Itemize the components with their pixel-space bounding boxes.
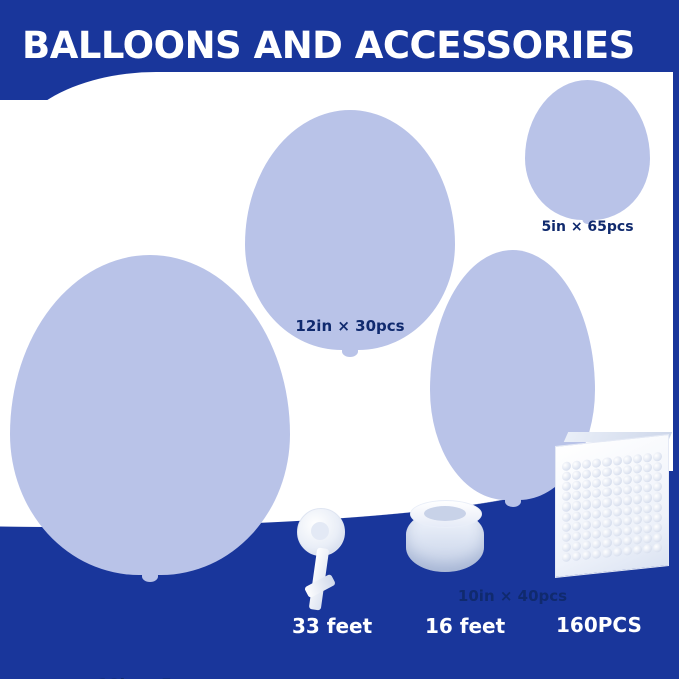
accessory-label-ribbon: 16 feet: [425, 614, 505, 638]
glue-dot: [633, 525, 642, 535]
glue-dot: [582, 489, 591, 499]
glue-dot: [592, 468, 601, 478]
glue-dot: [613, 537, 622, 547]
glue-dot: [643, 534, 652, 544]
glue-dot: [633, 535, 642, 545]
glue-dot: [613, 547, 622, 557]
glue-dot: [602, 467, 611, 477]
glue-dot: [643, 544, 652, 554]
glue-dot: [623, 475, 632, 485]
glue-dot: [602, 508, 611, 518]
glue-dot: [643, 473, 652, 483]
glue-dot: [633, 514, 642, 524]
glue-dot: [582, 500, 591, 510]
glue-dot: [572, 511, 581, 521]
glue-dot: [582, 510, 591, 520]
glue-dot: [643, 513, 652, 523]
glue-dot: [592, 509, 601, 519]
glue-dot: [562, 481, 571, 491]
glue-dot: [633, 504, 642, 514]
glue-dot: [582, 550, 591, 560]
ribbon-roll-icon: [406, 500, 484, 578]
glue-dot: [623, 536, 632, 546]
glue-dot: [562, 492, 571, 502]
glue-dot: [613, 527, 622, 537]
glue-dot: [613, 517, 622, 527]
tape-roll-hole: [311, 522, 329, 540]
glue-dot: [572, 541, 581, 551]
glue-dot: [643, 493, 652, 503]
balloon-body: [525, 80, 650, 220]
glue-dot: [623, 455, 632, 465]
accessory-dots-count: 160: [556, 613, 598, 637]
glue-dot: [623, 546, 632, 556]
glue-dot: [562, 461, 571, 471]
glue-dot: [582, 459, 591, 469]
glue-dot: [602, 518, 611, 528]
glue-dot: [562, 532, 571, 542]
glue-dot: [633, 454, 642, 464]
glue-dot: [643, 503, 652, 513]
glue-dot: [562, 542, 571, 552]
glue-dot: [572, 531, 581, 541]
glue-dot: [623, 516, 632, 526]
glue-dot: [623, 505, 632, 515]
glue-dot: [602, 497, 611, 507]
glue-dot: [613, 496, 622, 506]
glue-dots-grid: [562, 452, 662, 563]
balloon-label-10in: 10in × 40pcs: [430, 587, 595, 605]
glue-dot: [562, 552, 571, 562]
glue-dot: [653, 462, 662, 472]
glue-dot: [572, 470, 581, 480]
glue-dot: [613, 486, 622, 496]
balloon-label-5in: 5in × 65pcs: [525, 219, 650, 235]
balloon-5in: 5in × 65pcs: [525, 80, 650, 220]
glue-dot: [582, 540, 591, 550]
glue-dot: [572, 551, 581, 561]
glue-dot: [602, 548, 611, 558]
ribbon-roll-hole: [424, 506, 466, 521]
balloon-knot: [342, 346, 358, 357]
glue-dot: [633, 494, 642, 504]
glue-dot: [623, 495, 632, 505]
glue-dot: [633, 474, 642, 484]
glue-dot: [623, 485, 632, 495]
glue-dot: [643, 453, 652, 463]
glue-dot: [602, 538, 611, 548]
tape-roll-icon: [285, 508, 355, 608]
glue-dot: [582, 530, 591, 540]
glue-dot: [633, 484, 642, 494]
glue-dot: [633, 545, 642, 555]
glue-dot: [643, 523, 652, 533]
glue-dot: [643, 463, 652, 473]
page-title: BALLOONS AND ACCESSORIES: [22, 24, 672, 67]
glue-dot: [572, 480, 581, 490]
balloon-label-18in: 18in × 5pcs: [10, 675, 290, 679]
glue-dot: [592, 488, 601, 498]
glue-dot: [562, 512, 571, 522]
glue-dot: [572, 501, 581, 511]
glue-dot: [613, 456, 622, 466]
glue-dot: [592, 478, 601, 488]
glue-dot: [653, 492, 662, 502]
glue-dot: [582, 520, 591, 530]
glue-dot: [572, 491, 581, 501]
glue-dot: [633, 464, 642, 474]
glue-dot: [623, 465, 632, 475]
glue-dot: [582, 479, 591, 489]
glue-dot: [572, 521, 581, 531]
glue-dot: [592, 539, 601, 549]
balloon-knot: [142, 571, 158, 582]
glue-dot: [572, 460, 581, 470]
balloon-body: [245, 110, 455, 350]
glue-dot: [602, 457, 611, 467]
glue-dot: [613, 476, 622, 486]
glue-dot: [643, 483, 652, 493]
product-infographic: BALLOONS AND ACCESSORIES 18in × 5pcs 12i…: [0, 0, 679, 679]
glue-dot: [592, 458, 601, 468]
glue-dot: [602, 487, 611, 497]
glue-dot: [613, 506, 622, 516]
balloon-12in: 12in × 30pcs: [245, 110, 455, 350]
glue-dot: [653, 502, 662, 512]
glue-dot: [653, 533, 662, 543]
glue-dot: [592, 529, 601, 539]
accessory-dots-unit: PCS: [598, 613, 642, 637]
glue-dot: [653, 543, 662, 553]
glue-dot: [653, 452, 662, 462]
glue-dot: [653, 522, 662, 532]
glue-dot: [592, 499, 601, 509]
glue-dot: [653, 482, 662, 492]
accessory-label-tape: 33 feet: [292, 614, 372, 638]
glue-dot: [613, 466, 622, 476]
glue-dot: [582, 469, 591, 479]
balloon-label-12in: 12in × 30pcs: [245, 317, 455, 335]
accessory-label-dots: 160PCS: [556, 613, 642, 637]
glue-dot: [562, 471, 571, 481]
glue-dot: [623, 526, 632, 536]
glue-dots-sheet-icon: [555, 434, 669, 578]
glue-dot: [562, 522, 571, 532]
glue-dot: [592, 519, 601, 529]
glue-dot: [602, 477, 611, 487]
glue-dot: [653, 472, 662, 482]
glue-dot: [592, 549, 601, 559]
glue-dot: [562, 502, 571, 512]
balloon-knot: [505, 496, 521, 507]
glue-dot: [602, 528, 611, 538]
glue-dot: [653, 512, 662, 522]
